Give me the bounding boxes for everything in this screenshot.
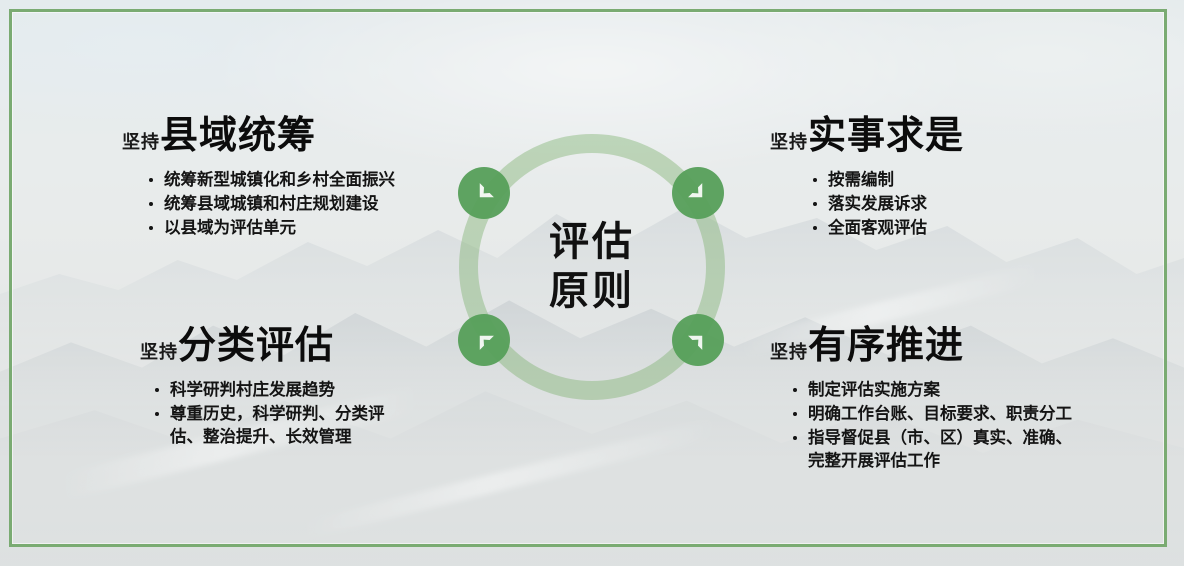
heading-seek-truth: 坚持实事求是 — [770, 116, 1170, 154]
slide-canvas: 坚持县域统筹 统筹新型城镇化和乡村全面振兴 统筹县域城镇和村庄规划建设 以县域为… — [0, 0, 1184, 566]
arrow-upper-left-icon — [458, 167, 510, 219]
center-ring-diagram: 评估 原则 — [459, 134, 725, 400]
list-item: 指导督促县（市、区）真实、准确、 完整开展评估工作 — [788, 426, 1170, 472]
heading-title: 有序推进 — [808, 323, 964, 367]
list-item: 明确工作台账、目标要求、职责分工 — [788, 402, 1170, 425]
list-item: 落实发展诉求 — [808, 192, 1170, 215]
heading-title: 县域统筹 — [160, 113, 316, 157]
bullet-list-seek-truth: 按需编制 落实发展诉求 全面客观评估 — [808, 168, 1170, 239]
center-label-line1: 评估 — [549, 220, 635, 265]
arrow-lower-left-icon — [458, 314, 510, 366]
list-item: 全面客观评估 — [808, 216, 1170, 239]
list-item: 尊重历史，科学研判、分类评 估、整治提升、长效管理 — [150, 402, 540, 448]
principle-block-orderly-advance: 坚持有序推进 制定评估实施方案 明确工作台账、目标要求、职责分工 指导督促县（市… — [770, 326, 1170, 473]
heading-prefix: 坚持 — [770, 132, 808, 153]
heading-prefix: 坚持 — [140, 342, 178, 363]
center-label-line2: 原则 — [549, 269, 635, 314]
principle-block-seek-truth: 坚持实事求是 按需编制 落实发展诉求 全面客观评估 — [770, 116, 1170, 240]
bullet-list-orderly-advance: 制定评估实施方案 明确工作台账、目标要求、职责分工 指导督促县（市、区）真实、准… — [788, 378, 1170, 472]
arrow-upper-right-icon — [672, 167, 724, 219]
heading-orderly-advance: 坚持有序推进 — [770, 326, 1170, 364]
heading-prefix: 坚持 — [770, 342, 808, 363]
list-item: 制定评估实施方案 — [788, 378, 1170, 401]
arrow-lower-right-icon — [672, 314, 724, 366]
heading-prefix: 坚持 — [122, 132, 160, 153]
heading-title: 分类评估 — [178, 323, 334, 367]
list-item: 按需编制 — [808, 168, 1170, 191]
heading-title: 实事求是 — [808, 113, 964, 157]
